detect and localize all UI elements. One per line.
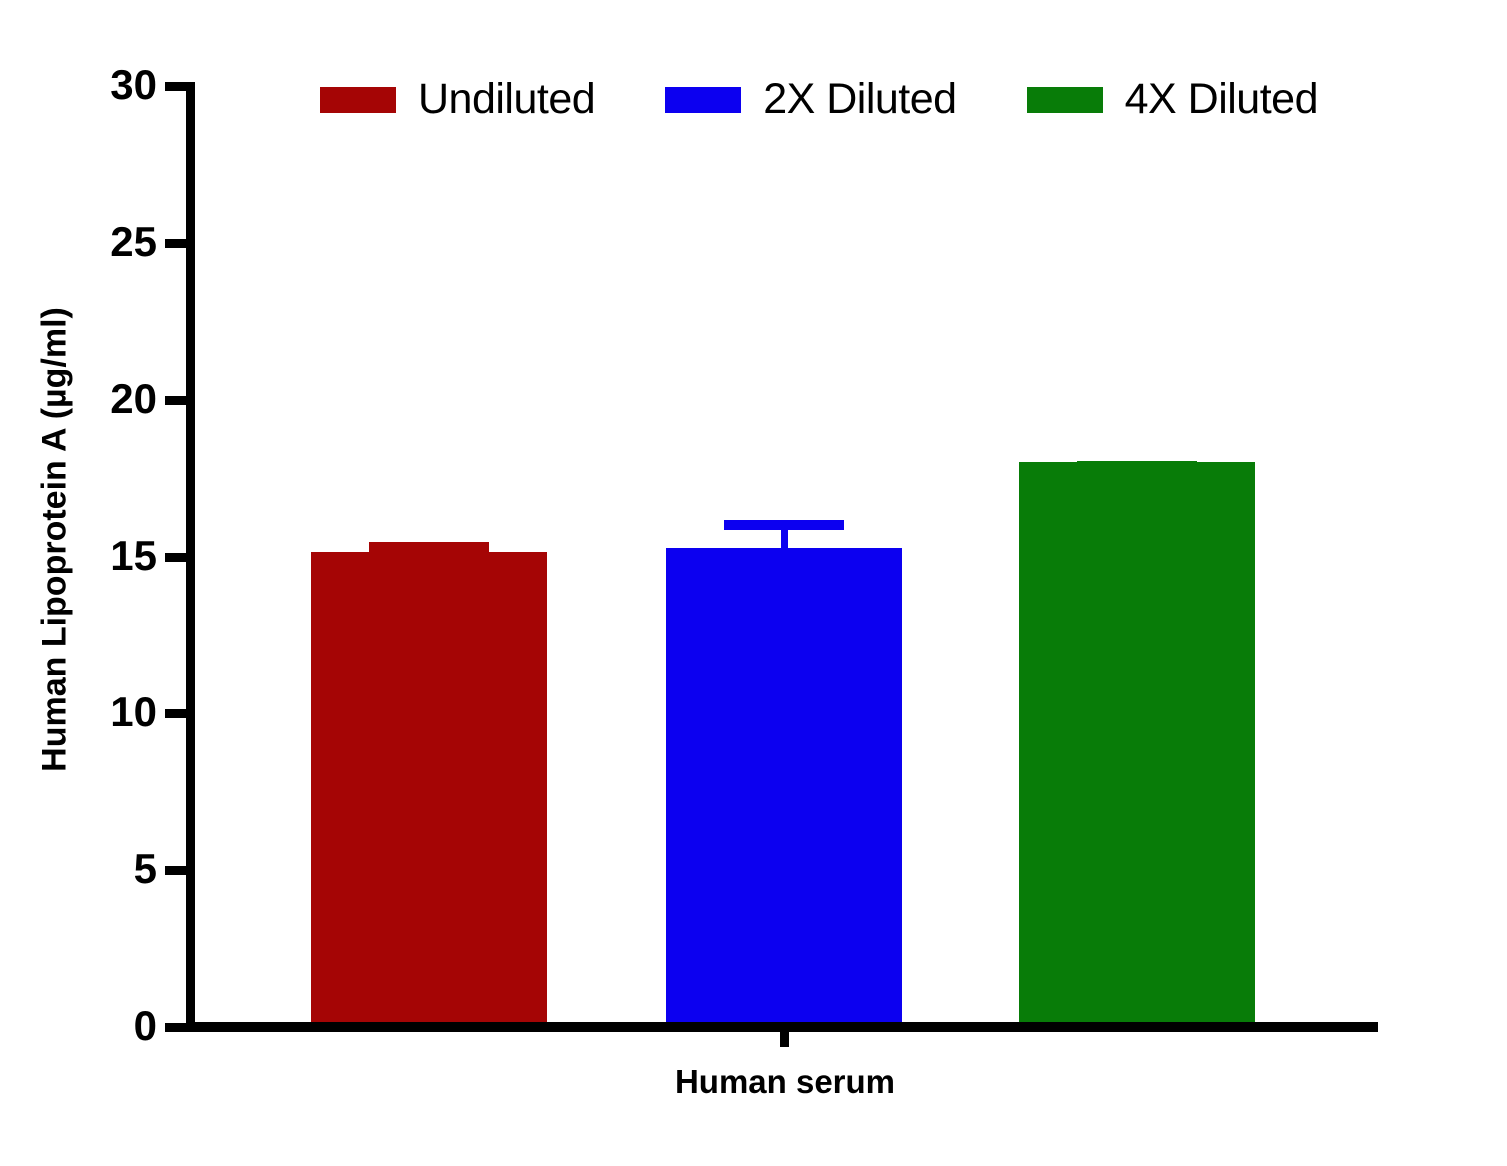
y-axis-tick-label-25: 25 — [0, 221, 157, 263]
y-axis-tick-label-20: 20 — [0, 378, 157, 420]
y-axis-tick-30 — [165, 82, 190, 91]
y-axis-tick-5 — [165, 866, 190, 875]
bar-2x-diluted[interactable] — [666, 548, 902, 1022]
y-axis-tick-10 — [165, 709, 190, 718]
x-axis-title: Human serum — [190, 1063, 1380, 1101]
error-bar-cap-undiluted — [369, 542, 489, 552]
y-axis-tick-label-10: 10 — [0, 691, 157, 733]
x-axis-tick-human-serum — [780, 1031, 789, 1047]
y-axis-tick-label-15: 15 — [0, 535, 157, 577]
y-axis-tick-label-0: 0 — [0, 1005, 157, 1047]
bar-4x-diluted[interactable] — [1019, 462, 1255, 1022]
plot-area: 302520151050 — [0, 0, 1507, 1166]
y-axis-tick-label-30: 30 — [0, 64, 157, 106]
y-axis-tick-20 — [165, 396, 190, 405]
y-axis-tick-25 — [165, 239, 190, 248]
y-axis-tick-label-5: 5 — [0, 848, 157, 890]
bar-chart-figure: Undiluted 2X Diluted 4X Diluted Human Li… — [0, 0, 1507, 1166]
error-bar-cap-4x-diluted — [1077, 461, 1197, 471]
error-bar-cap-2x-diluted — [724, 520, 844, 530]
bar-undiluted[interactable] — [311, 552, 547, 1023]
y-axis-tick-15 — [165, 553, 190, 562]
y-axis-tick-0 — [165, 1023, 190, 1032]
